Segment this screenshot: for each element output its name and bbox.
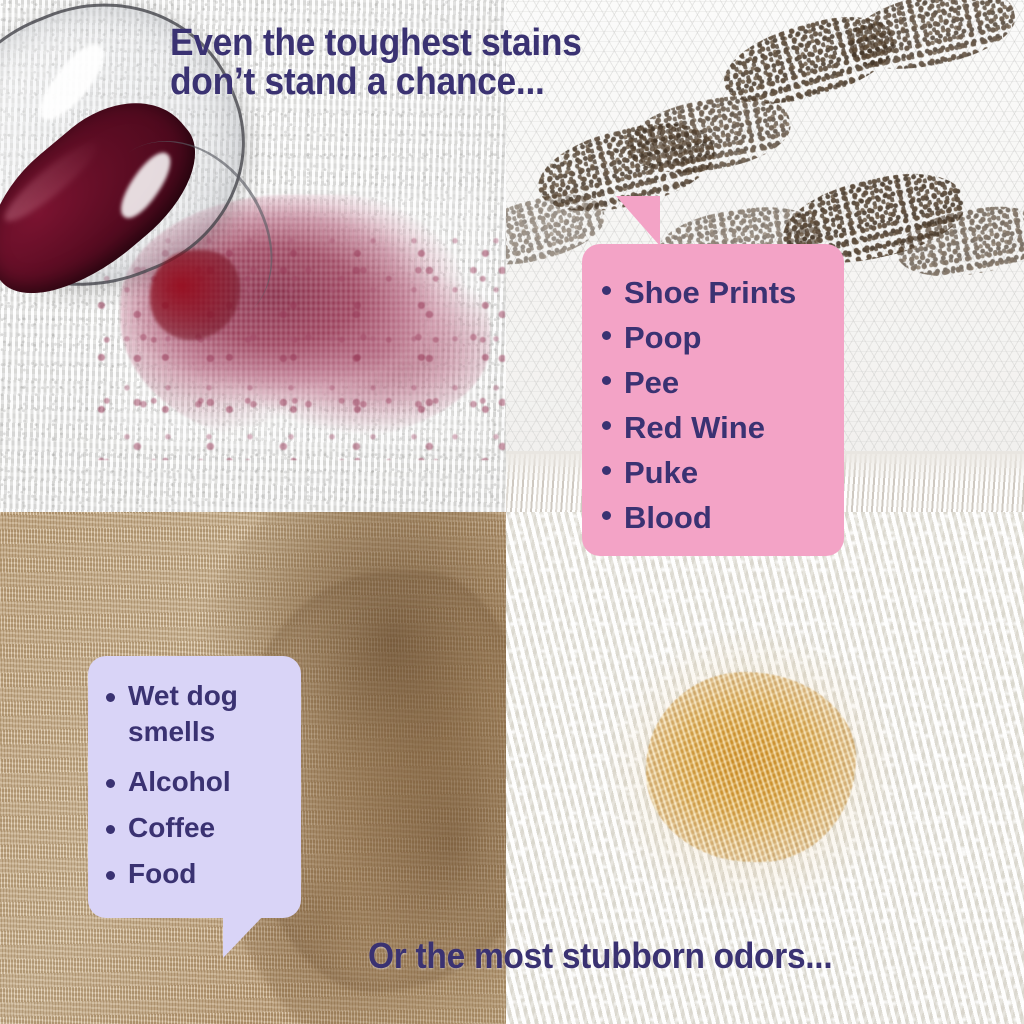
list-item: Red Wine [598, 405, 830, 450]
list-item: Pee [598, 360, 830, 405]
list-item: Blood [598, 495, 830, 540]
odors-list: Wet dog smells Alcohol Coffee Food [88, 656, 301, 892]
odors-callout-tail [223, 916, 273, 958]
stains-list: Shoe Prints Poop Pee Red Wine Puke Blood [582, 244, 844, 540]
headline-odors: Or the most stubborn odors... [368, 938, 832, 975]
promo-graphic: Even the toughest stains don’t stand a c… [0, 0, 1024, 1024]
list-item: Puke [598, 450, 830, 495]
list-item: Shoe Prints [598, 270, 830, 315]
stains-callout-tail [604, 196, 660, 246]
list-item: Alcohol [102, 764, 291, 800]
list-item: Poop [598, 315, 830, 360]
food-stain-shape [646, 672, 856, 862]
stains-callout-bubble: Shoe Prints Poop Pee Red Wine Puke Blood [582, 244, 844, 556]
list-item: Coffee [102, 810, 291, 846]
headline-stains: Even the toughest stains don’t stand a c… [170, 24, 582, 102]
list-item: Wet dog smells [102, 678, 291, 750]
odors-callout-bubble: Wet dog smells Alcohol Coffee Food [88, 656, 301, 918]
list-item: Food [102, 856, 291, 892]
